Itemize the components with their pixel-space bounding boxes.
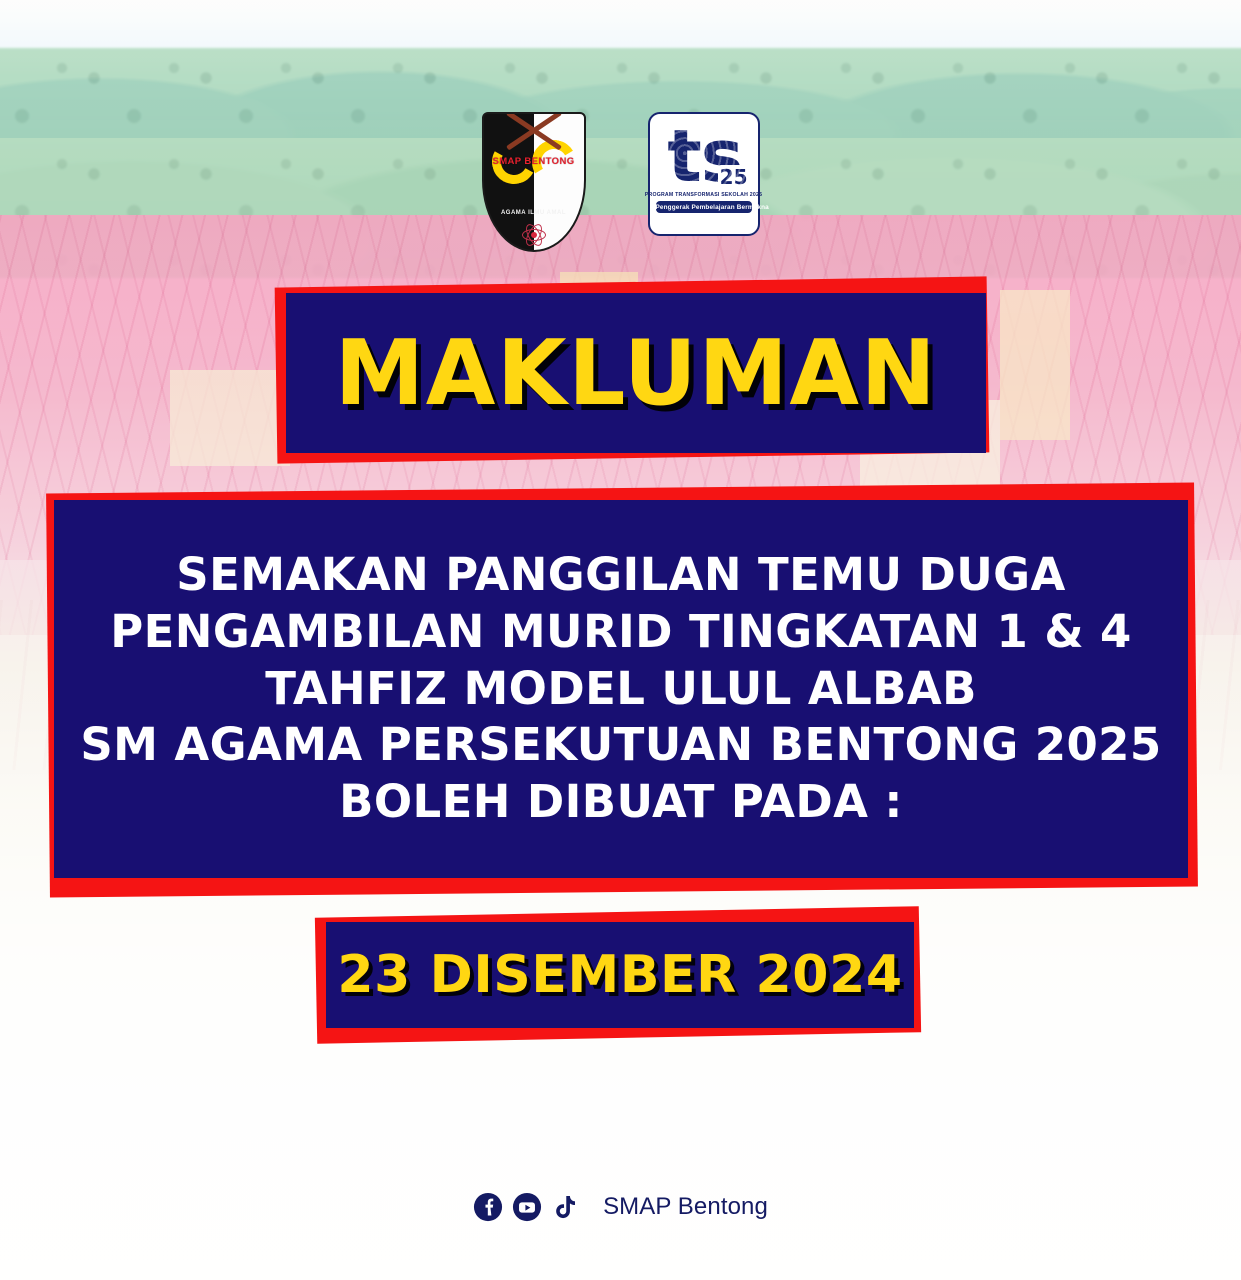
logo-row: SMAP BENTONG AGAMA ILMU AMAL t s 25 PROG… xyxy=(0,112,1241,252)
crest-shield-icon: SMAP BENTONG AGAMA ILMU AMAL xyxy=(482,112,586,252)
body-banner-text: SEMAKAN PANGGILAN TEMU DUGA PENGAMBILAN … xyxy=(54,500,1188,878)
body-banner: SEMAKAN PANGGILAN TEMU DUGA PENGAMBILAN … xyxy=(38,486,1200,900)
ts25-tagline: Penggerak Pembelajaran Bermakna xyxy=(656,201,752,213)
date-banner: 23 DISEMBER 2024 xyxy=(316,908,930,1044)
facebook-icon[interactable] xyxy=(473,1192,503,1222)
youtube-icon[interactable] xyxy=(512,1192,542,1222)
date-banner-text: 23 DISEMBER 2024 xyxy=(326,922,914,1028)
body-line-5: BOLEH DIBUAT PADA : xyxy=(339,775,903,830)
ts25-monogram-icon: t s 25 xyxy=(656,121,752,191)
title-banner: MAKLUMAN xyxy=(262,282,984,464)
ts25-letter-t: t xyxy=(667,120,697,192)
body-line-4: SM AGAMA PERSEKUTUAN BENTONG 2025 xyxy=(80,718,1161,773)
school-crest-logo: SMAP BENTONG AGAMA ILMU AMAL xyxy=(482,112,586,252)
crest-atom-icon xyxy=(522,224,546,246)
title-banner-text: MAKLUMAN xyxy=(286,293,986,453)
crest-motto: AGAMA ILMU AMAL xyxy=(484,210,584,216)
tiktok-icon[interactable] xyxy=(551,1192,581,1222)
social-footer: SMAP Bentong xyxy=(0,1192,1241,1222)
body-line-3: TAHFIZ MODEL ULUL ALBAB xyxy=(265,662,977,717)
ts25-year-badge: 25 xyxy=(718,165,750,189)
footer-handle-label: SMAP Bentong xyxy=(603,1193,768,1221)
body-line-2: PENGAMBILAN MURID TINGKATAN 1 & 4 xyxy=(110,605,1132,660)
ts25-logo: t s 25 PROGRAM TRANSFORMASI SEKOLAH 2025… xyxy=(648,112,760,236)
crest-school-name: SMAP BENTONG xyxy=(484,156,584,167)
body-line-1: SEMAKAN PANGGILAN TEMU DUGA xyxy=(176,548,1065,603)
announcement-poster: SMAP BENTONG AGAMA ILMU AMAL t s 25 PROG… xyxy=(0,0,1241,1280)
